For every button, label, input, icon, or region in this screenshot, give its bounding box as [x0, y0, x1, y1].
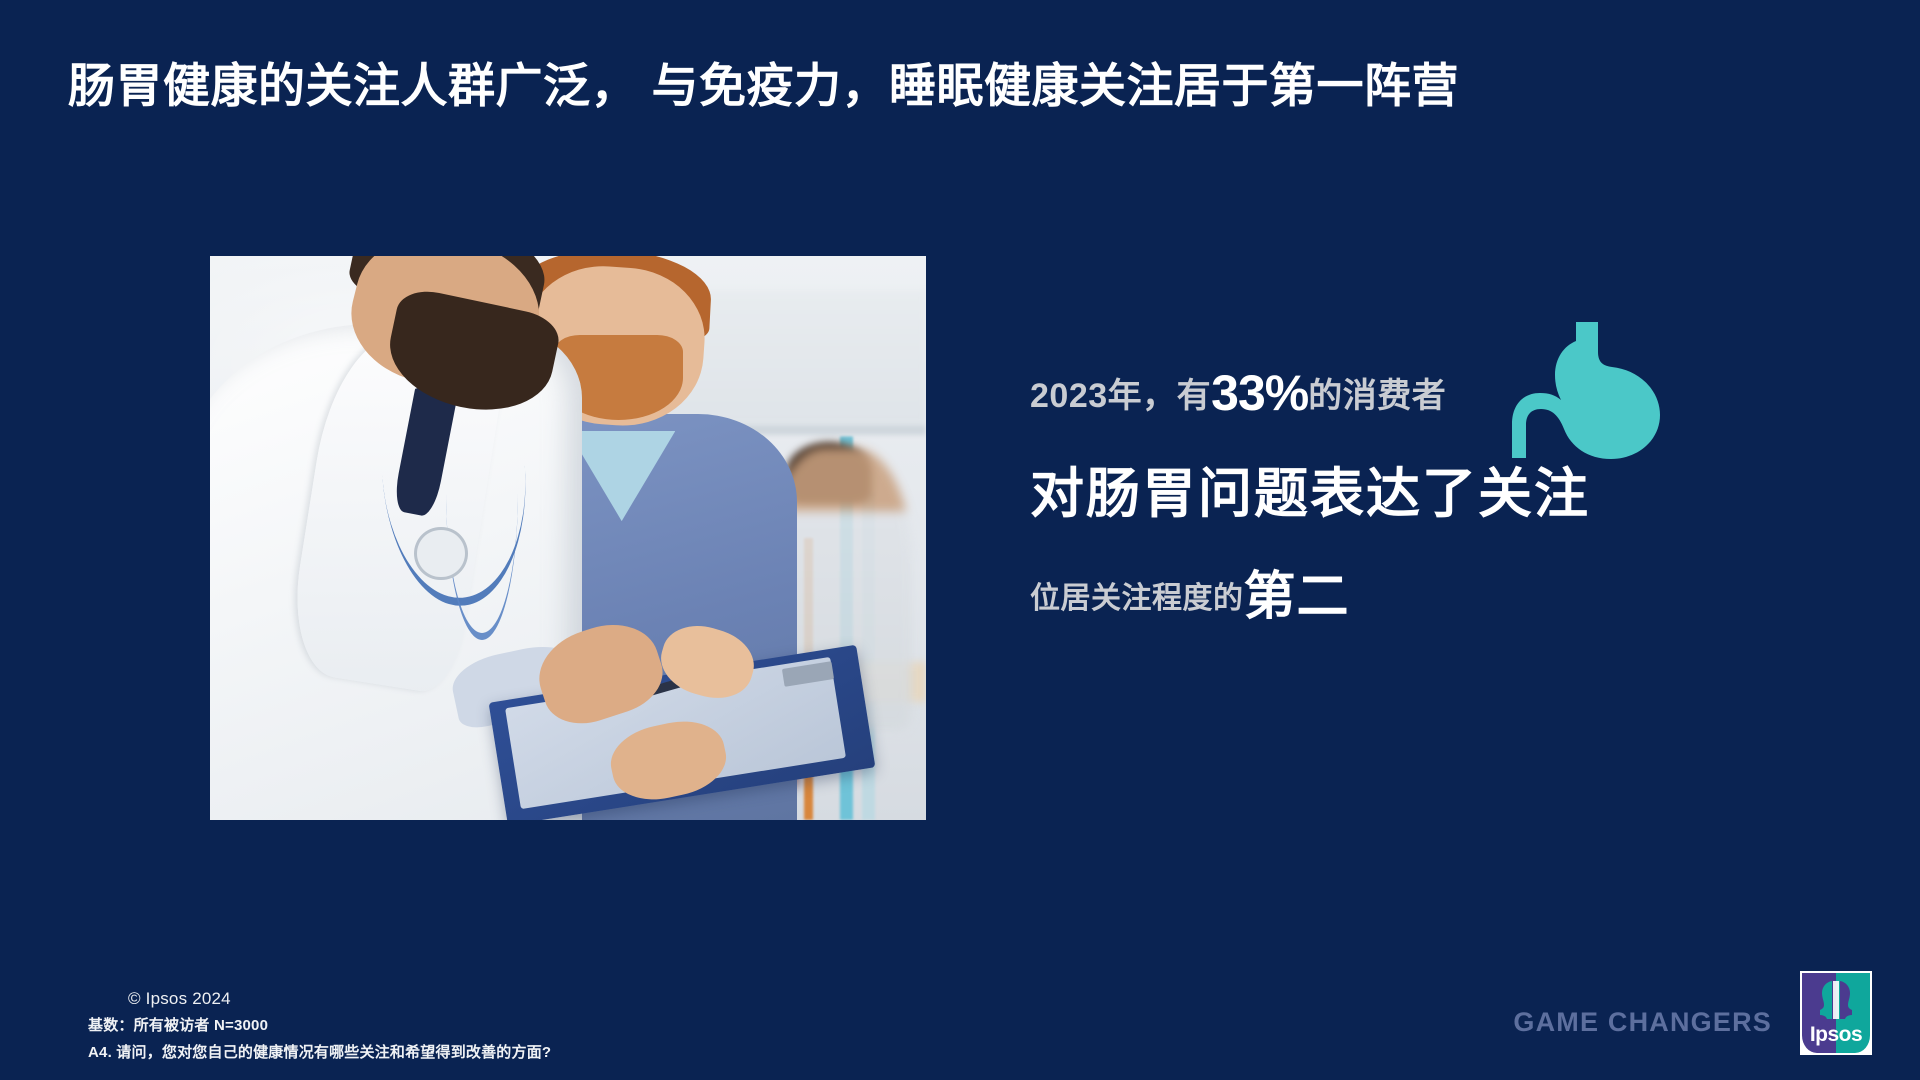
- stat-line-2: 对肠胃问题表达了关注: [1030, 466, 1830, 523]
- stat-percentage: 33%: [1211, 365, 1308, 421]
- doctor-nurse-photo: [210, 256, 926, 820]
- stat-line-1: 2023年，有33%的消费者: [1030, 368, 1830, 418]
- footer: © Ipsos 2024 基数：所有被访者 N=3000 A4. 请问，您对您自…: [88, 989, 551, 1062]
- ipsos-logo-inner: Ipsos: [1802, 973, 1870, 1053]
- survey-question-text: A4. 请问，您对您自己的健康情况有哪些关注和希望得到改善的方面?: [88, 1041, 551, 1062]
- base-size-text: 基数：所有被访者 N=3000: [88, 1014, 551, 1035]
- stat-line3-prefix: 位居关注程度的: [1030, 582, 1244, 615]
- ipsos-logo-wordmark: Ipsos: [1802, 1023, 1870, 1047]
- page-title: 肠胃健康的关注人群广泛， 与免疫力，睡眠健康关注居于第一阵营: [68, 58, 1768, 114]
- copyright-text: © Ipsos 2024: [128, 989, 551, 1009]
- statistic-block: 2023年，有33%的消费者 对肠胃问题表达了关注 位居关注程度的第二: [1030, 368, 1830, 623]
- stat-rank: 第二: [1244, 568, 1350, 626]
- photo-background: [210, 256, 926, 820]
- stat-line1-suffix: 的消费者: [1308, 377, 1446, 415]
- slide-root: 肠胃健康的关注人群广泛， 与免疫力，睡眠健康关注居于第一阵营: [0, 0, 1920, 1080]
- ipsos-logo: Ipsos: [1800, 971, 1872, 1055]
- stat-line-3: 位居关注程度的第二: [1030, 571, 1830, 623]
- game-changers-tagline: GAME CHANGERS: [1513, 1007, 1772, 1038]
- stat-line1-prefix: 2023年，有: [1030, 377, 1211, 415]
- stethoscope-head: [414, 527, 468, 581]
